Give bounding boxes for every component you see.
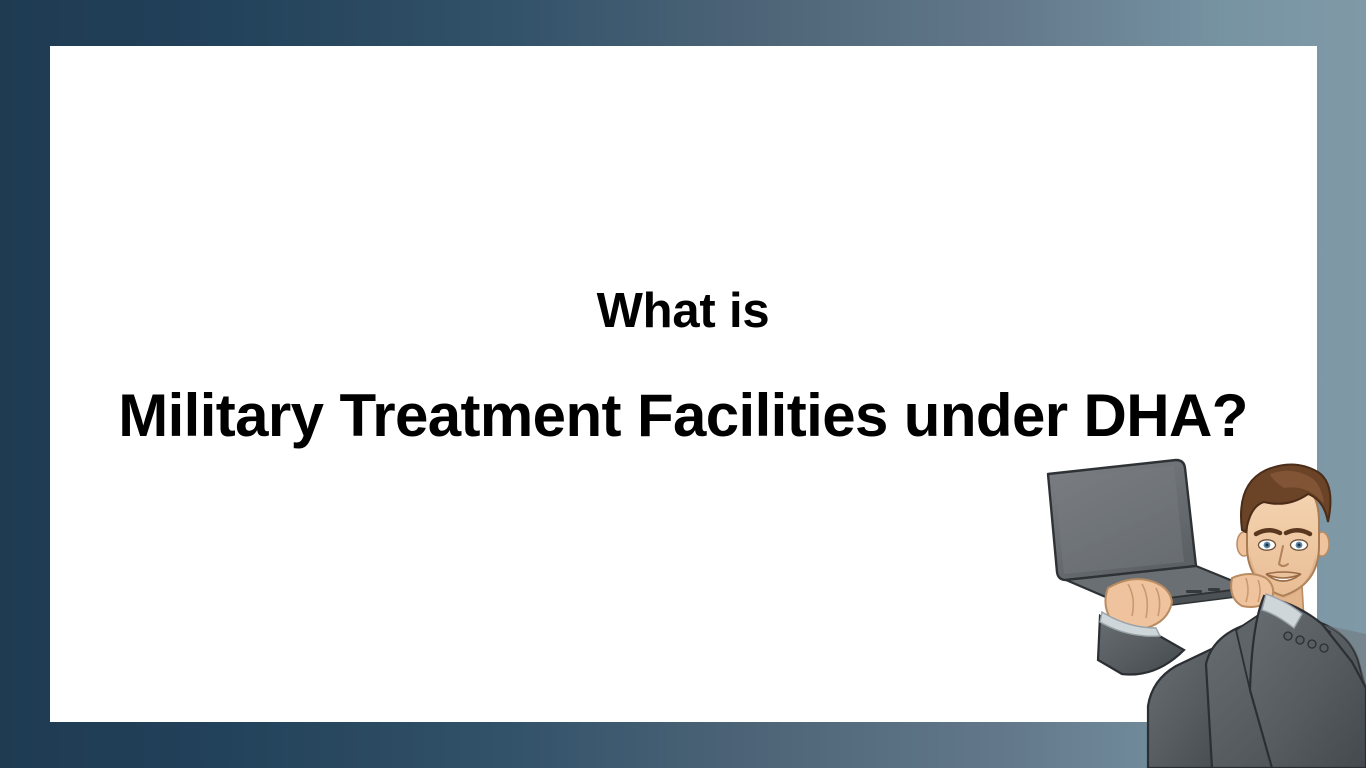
businessman-with-laptop-illustration: [1036, 438, 1366, 768]
slide-canvas: What is Military Treatment Facilities un…: [0, 0, 1366, 768]
